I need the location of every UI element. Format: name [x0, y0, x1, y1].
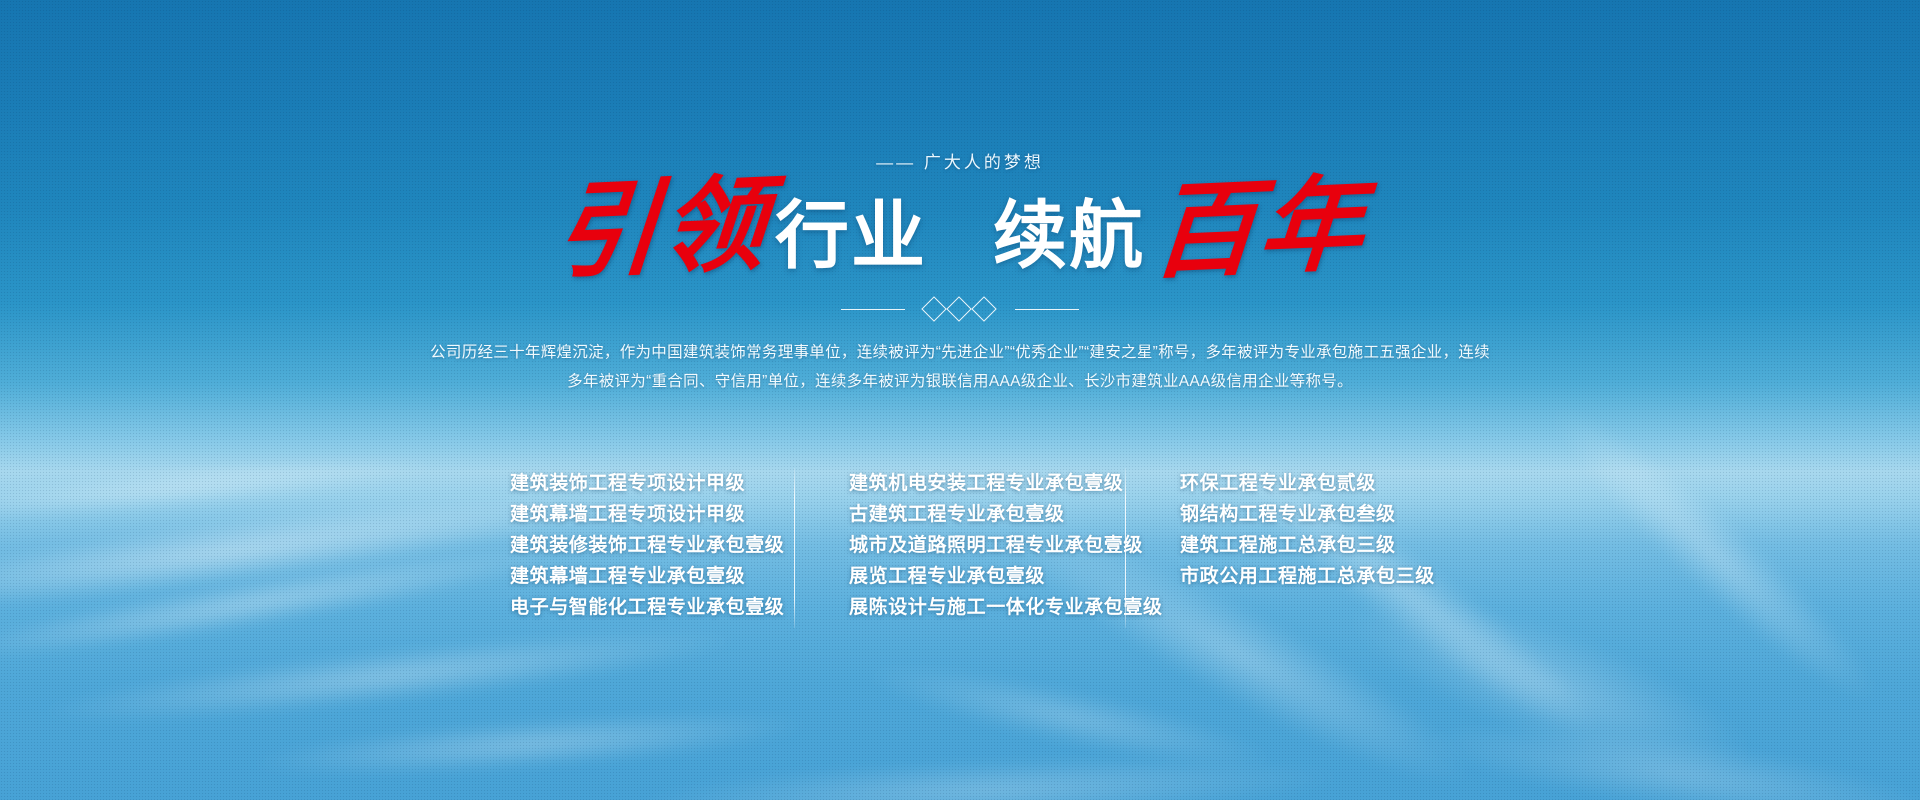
qualification-item: 建筑装饰工程专项设计甲级 [510, 468, 794, 499]
qualification-column-2: 建筑机电安装工程专业承包壹级 古建筑工程专业承包壹级 城市及道路照明工程专业承包… [795, 468, 1125, 623]
qualification-item: 建筑幕墙工程专业承包壹级 [510, 561, 794, 592]
qualification-column-1: 建筑装饰工程专项设计甲级 建筑幕墙工程专项设计甲级 建筑装修装饰工程专业承包壹级… [494, 468, 794, 623]
qualification-item: 钢结构工程专业承包叁级 [1180, 499, 1426, 530]
divider-diamonds [917, 296, 1003, 322]
company-description: 公司历经三十年辉煌沉淀，作为中国建筑装饰常务理事单位，连续被评为“先进企业”“优… [430, 338, 1490, 396]
ornamental-divider [0, 296, 1920, 322]
diamond-icon [946, 296, 971, 321]
qualification-item: 展陈设计与施工一体化专业承包壹级 [849, 592, 1125, 623]
qualification-columns: 建筑装饰工程专项设计甲级 建筑幕墙工程专项设计甲级 建筑装修装饰工程专业承包壹级… [494, 468, 1426, 628]
qualification-item: 市政公用工程施工总承包三级 [1180, 561, 1426, 592]
headline-part-yinling: 引领 [550, 171, 771, 284]
qualification-item: 建筑机电安装工程专业承包壹级 [849, 468, 1125, 499]
qualification-column-3: 环保工程专业承包贰级 钢结构工程专业承包叁级 建筑工程施工总承包三级 市政公用工… [1126, 468, 1426, 592]
headline-part-bainian: 百年 [1148, 171, 1369, 284]
headline-part-hangye: 行业 [775, 199, 927, 273]
banner-stage: —— 广大人的梦想 引领行业续航百年 公司历经三十年辉煌沉淀，作为中国建筑装饰常… [0, 0, 1920, 800]
banner-content: —— 广大人的梦想 引领行业续航百年 公司历经三十年辉煌沉淀，作为中国建筑装饰常… [0, 0, 1920, 800]
qualification-item: 电子与智能化工程专业承包壹级 [510, 592, 794, 623]
qualification-item: 建筑工程施工总承包三级 [1180, 530, 1426, 561]
qualification-item: 城市及道路照明工程专业承包壹级 [849, 530, 1125, 561]
qualification-item: 环保工程专业承包贰级 [1180, 468, 1426, 499]
qualification-item: 建筑幕墙工程专项设计甲级 [510, 499, 794, 530]
divider-line-left [841, 309, 905, 310]
eyebrow-tagline: —— 广大人的梦想 [0, 148, 1920, 173]
qualification-item: 建筑装修装饰工程专业承包壹级 [510, 530, 794, 561]
diamond-icon [921, 296, 946, 321]
diamond-icon [971, 296, 996, 321]
headline-part-xuhang: 续航 [993, 199, 1145, 273]
divider-line-right [1015, 309, 1079, 310]
qualification-item: 古建筑工程专业承包壹级 [849, 499, 1125, 530]
qualification-item: 展览工程专业承包壹级 [849, 561, 1125, 592]
headline: 引领行业续航百年 [0, 176, 1920, 280]
